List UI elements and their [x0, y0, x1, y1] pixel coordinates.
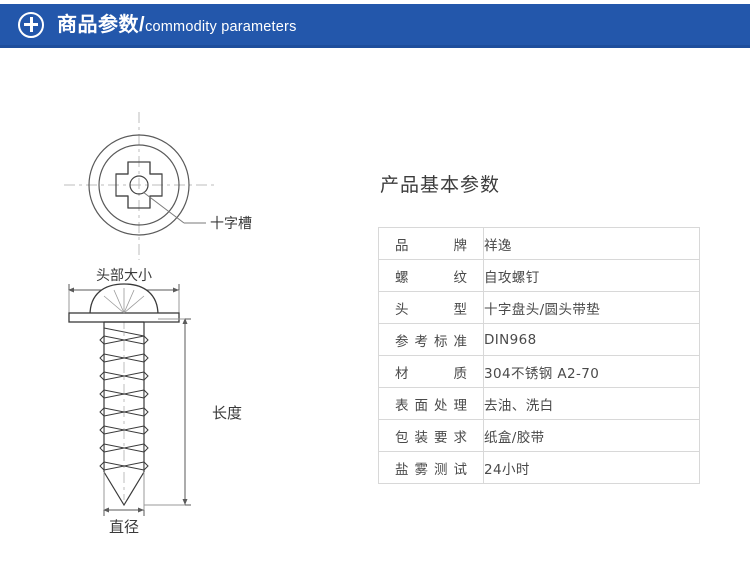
head-size-dimension-label: 头部大小: [96, 268, 152, 284]
section-header-bar: 商品参数/commodity parameters: [0, 4, 750, 48]
section-header-title: 商品参数/commodity parameters: [57, 15, 297, 35]
spec-label-cell: 螺纹: [379, 260, 484, 292]
spec-value-cell: 十字盘头/圆头带垫: [484, 292, 700, 324]
table-row: 盐雾测试 24小时: [379, 452, 700, 484]
product-spec-panel: 产品基本参数 品牌 祥逸 螺纹 自攻螺钉 头型 十字盘头/圆头带垫 参考标准 D…: [378, 170, 700, 484]
table-row: 包装要求 纸盒/胶带: [379, 420, 700, 452]
cross-recess-label: 十字槽: [210, 216, 252, 232]
diameter-dimension-label: 直径: [109, 518, 139, 536]
length-dimension-line: [144, 319, 191, 505]
spec-label-cell: 参考标准: [379, 324, 484, 356]
spec-value-cell: 自攻螺钉: [484, 260, 700, 292]
table-row: 螺纹 自攻螺钉: [379, 260, 700, 292]
spec-label-text: 参考标准: [395, 330, 467, 350]
section-header-title-en: commodity parameters: [145, 19, 296, 35]
spec-label-text: 螺纹: [395, 266, 467, 286]
section-header-title-cn: 商品参数: [57, 14, 139, 36]
spec-label-cell: 包装要求: [379, 420, 484, 452]
table-row: 材质 304不锈钢 A2-70: [379, 356, 700, 388]
table-row: 品牌 祥逸: [379, 228, 700, 260]
spec-label-text: 材质: [395, 362, 467, 382]
screw-technical-drawing: 十字槽 头部大小: [60, 100, 360, 540]
spec-panel-title: 产品基本参数: [380, 170, 700, 197]
spec-value-cell: 304不锈钢 A2-70: [484, 356, 700, 388]
spec-label-text: 包装要求: [395, 426, 467, 446]
screw-drawing-svg: 十字槽 头部大小: [60, 100, 360, 540]
spec-value-cell: 24小时: [484, 452, 700, 484]
spec-label-text: 表面处理: [395, 394, 467, 414]
spec-label-text: 盐雾测试: [395, 458, 467, 478]
spec-value-cell: 去油、洗白: [484, 388, 700, 420]
spec-value-cell: 纸盒/胶带: [484, 420, 700, 452]
spec-label-text: 头型: [395, 298, 467, 318]
spec-label-cell: 头型: [379, 292, 484, 324]
spec-label-cell: 表面处理: [379, 388, 484, 420]
spec-table-body: 品牌 祥逸 螺纹 自攻螺钉 头型 十字盘头/圆头带垫 参考标准 DIN968 材…: [379, 228, 700, 484]
top-view-centerlines: [64, 112, 215, 260]
spec-value-cell: 祥逸: [484, 228, 700, 260]
plus-circle-icon: [18, 12, 44, 38]
table-row: 参考标准 DIN968: [379, 324, 700, 356]
spec-label-cell: 材质: [379, 356, 484, 388]
spec-watermark-text: [380, 203, 700, 219]
length-dimension-label: 长度: [212, 404, 242, 422]
spec-value-cell: DIN968: [484, 324, 700, 356]
spec-label-cell: 品牌: [379, 228, 484, 260]
cross-recess-leader-line: [143, 192, 206, 223]
spec-label-cell: 盐雾测试: [379, 452, 484, 484]
table-row: 表面处理 去油、洗白: [379, 388, 700, 420]
spec-label-text: 品牌: [395, 234, 467, 254]
product-spec-table: 品牌 祥逸 螺纹 自攻螺钉 头型 十字盘头/圆头带垫 参考标准 DIN968 材…: [378, 227, 700, 484]
table-row: 头型 十字盘头/圆头带垫: [379, 292, 700, 324]
